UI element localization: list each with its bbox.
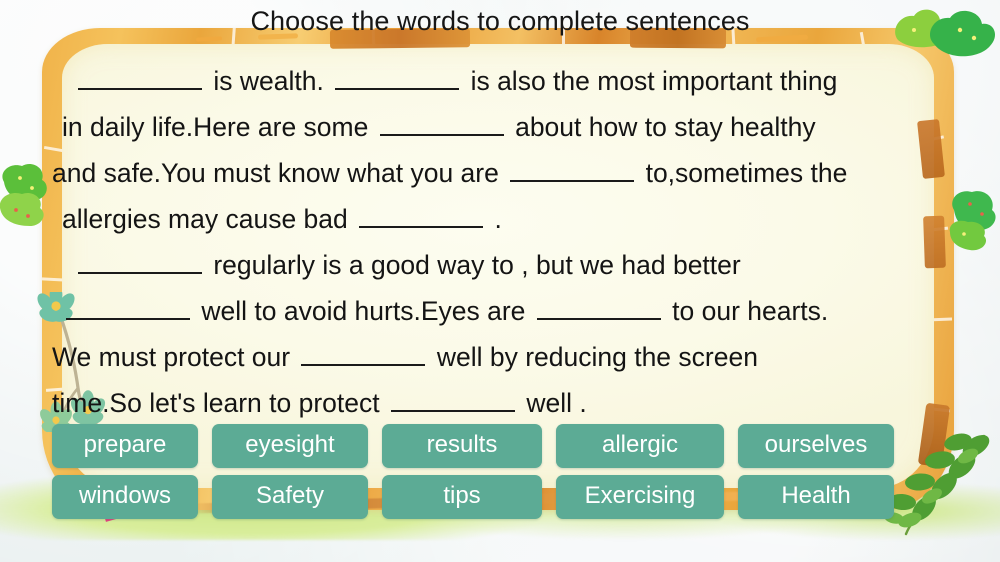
sentence-text: allergies may cause bad: [62, 204, 355, 234]
slide-content: Choose the words to complete sentences i…: [0, 0, 1000, 562]
answer-blank[interactable]: [391, 388, 515, 412]
word-chip-eyesight[interactable]: eyesight: [212, 424, 368, 468]
word-chip-results[interactable]: results: [382, 424, 542, 468]
sentence-text: well to avoid hurts.Eyes are: [194, 296, 533, 326]
line-5: regularly is a good way to , but we had …: [52, 242, 948, 288]
answer-blank[interactable]: [335, 66, 459, 90]
sentence-text: We must protect our: [52, 342, 297, 372]
word-chip-health[interactable]: Health: [738, 475, 894, 519]
word-chip-exercising[interactable]: Exercising: [556, 475, 724, 519]
word-chip-safety[interactable]: Safety: [212, 475, 368, 519]
sentence-text: in daily life.Here are some: [62, 112, 376, 142]
sentence-text: to our hearts.: [665, 296, 829, 326]
sentence-text: is wealth.: [206, 66, 331, 96]
word-chip-prepare[interactable]: prepare: [52, 424, 198, 468]
answer-blank[interactable]: [301, 342, 425, 366]
line-3: and safe.You must know what you are to,s…: [52, 150, 948, 196]
slide-canvas: ENGLISH: [0, 0, 1000, 562]
sentence-text: and safe.You must know what you are: [52, 158, 506, 188]
word-bank-row-1: prepareeyesightresultsallergicourselves: [52, 424, 952, 468]
answer-blank[interactable]: [78, 66, 202, 90]
sentence-text: about how to stay healthy: [508, 112, 816, 142]
line-6: well to avoid hurts.Eyes are to our hear…: [52, 288, 948, 334]
line-8: time.So let's learn to protect well .: [52, 380, 948, 426]
answer-blank[interactable]: [380, 112, 504, 136]
word-bank-row-2: windowsSafetytipsExercisingHealth: [52, 475, 952, 519]
word-bank: prepareeyesightresultsallergicourselves …: [52, 424, 952, 526]
answer-blank[interactable]: [537, 296, 661, 320]
word-chip-windows[interactable]: windows: [52, 475, 198, 519]
sentence-text: well .: [519, 388, 587, 418]
word-chip-tips[interactable]: tips: [382, 475, 542, 519]
answer-blank[interactable]: [66, 296, 190, 320]
line-2: in daily life.Here are some about how to…: [52, 104, 948, 150]
answer-blank[interactable]: [78, 250, 202, 274]
sentence-text: regularly is a good way to , but we had …: [206, 250, 741, 280]
brush-stroke-edge: [19, 192, 27, 218]
word-chip-ourselves[interactable]: ourselves: [738, 424, 894, 468]
sentence-text: well by reducing the screen: [429, 342, 757, 372]
sentence-text: to,sometimes the: [638, 158, 847, 188]
line-7: We must protect our well by reducing the…: [52, 334, 948, 380]
foliage-right-icon: [946, 186, 1000, 256]
page-title: Choose the words to complete sentences: [0, 6, 1000, 37]
sentence-text: is also the most important thing: [463, 66, 837, 96]
sentence-text: time.So let's learn to protect: [52, 388, 387, 418]
line-4: allergies may cause bad .: [52, 196, 948, 242]
answer-blank[interactable]: [359, 204, 483, 228]
line-1: is wealth. is also the most important th…: [52, 58, 948, 104]
sentence-text: .: [487, 204, 502, 234]
answer-blank[interactable]: [510, 158, 634, 182]
exercise-text: is wealth. is also the most important th…: [52, 58, 948, 426]
word-chip-allergic[interactable]: allergic: [556, 424, 724, 468]
